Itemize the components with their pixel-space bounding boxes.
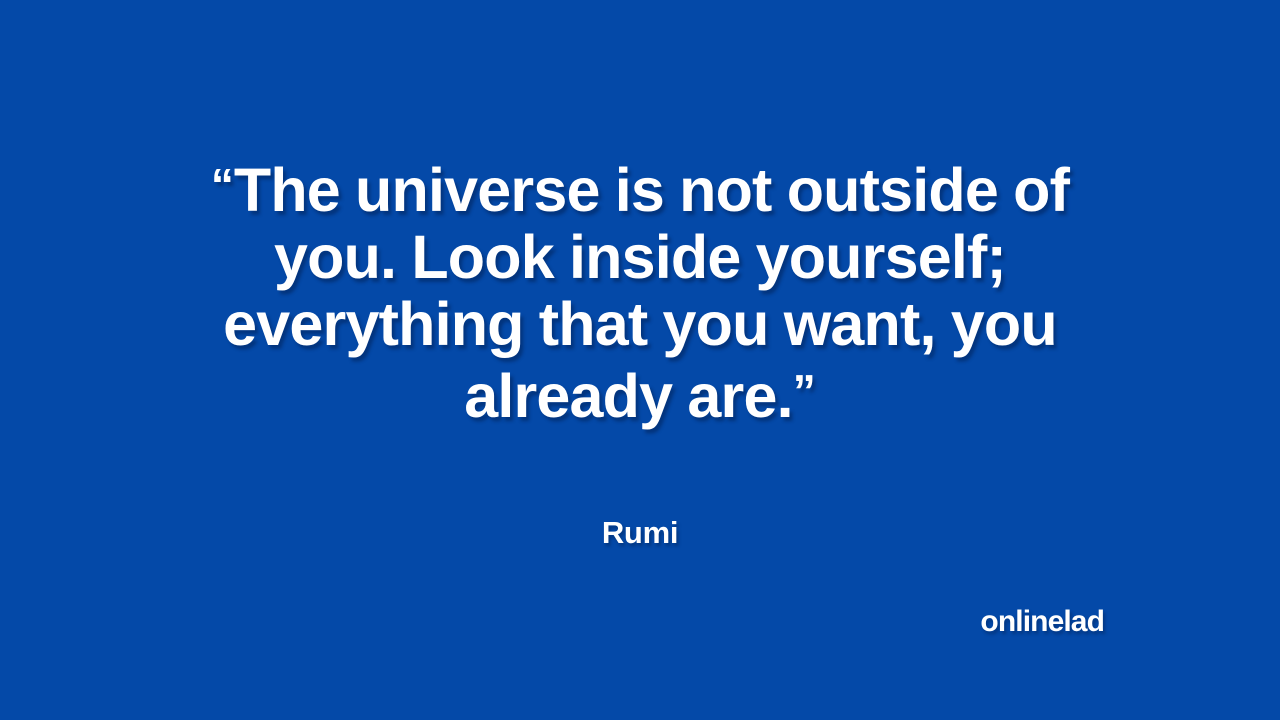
close-quote-mark: ” (793, 365, 816, 417)
quote-text: “The universe is not outside of you. Loo… (95, 152, 1185, 430)
quote-card: “The universe is not outside of you. Loo… (0, 0, 1280, 720)
quote-block: “The universe is not outside of you. Loo… (0, 152, 1280, 430)
open-quote-mark: “ (211, 159, 234, 211)
quote-body: The universe is not outside of you. Look… (223, 156, 1069, 430)
quote-author: Rumi (0, 514, 1280, 552)
brand-watermark: onlinelad (980, 604, 1104, 640)
